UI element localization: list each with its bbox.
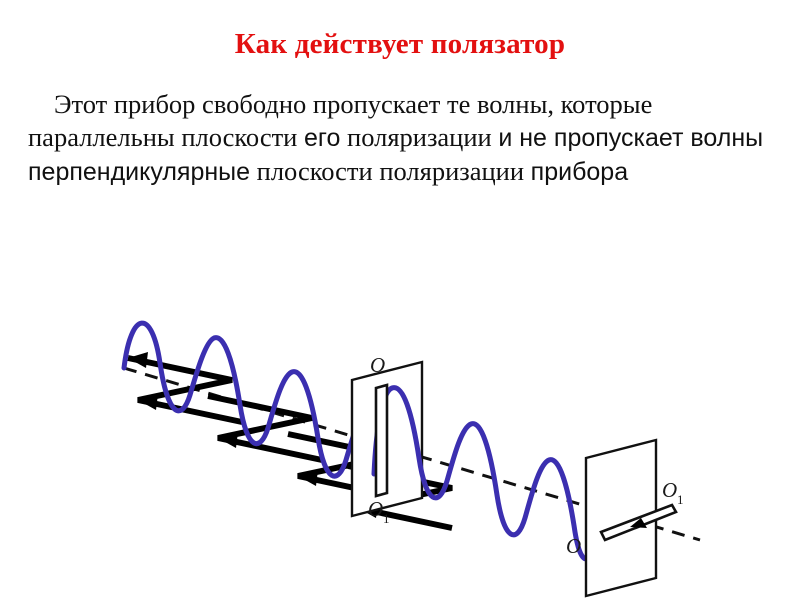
plate2-label-right: O — [662, 478, 677, 502]
text-run-4: поляризации — [347, 122, 492, 152]
text-run-7 — [250, 156, 257, 186]
zigzag-arrowheads — [128, 352, 378, 518]
plate1-label-top: O — [370, 353, 385, 377]
text-run-10: прибора — [531, 158, 628, 186]
plate1-label-bottom-sub: 1 — [383, 511, 390, 526]
text-run-2: его — [304, 124, 340, 152]
text-run-9 — [524, 156, 531, 186]
slide-canvas: Как действует полязатор Этот прибор своб… — [0, 0, 800, 600]
plate1-label-bottom: O — [368, 497, 383, 521]
body-paragraph: Этот прибор свободно пропускает те волны… — [28, 88, 770, 189]
text-run-8: плоскости поляризации — [257, 156, 524, 186]
page-title: Как действует полязатор — [0, 28, 800, 61]
polarizer-diagram: O O 1 O O 1 — [0, 300, 800, 600]
plate2-label-left: O — [566, 534, 581, 558]
plate2-label-right-sub: 1 — [677, 492, 684, 507]
plate-1-vertical-slit — [376, 385, 387, 496]
